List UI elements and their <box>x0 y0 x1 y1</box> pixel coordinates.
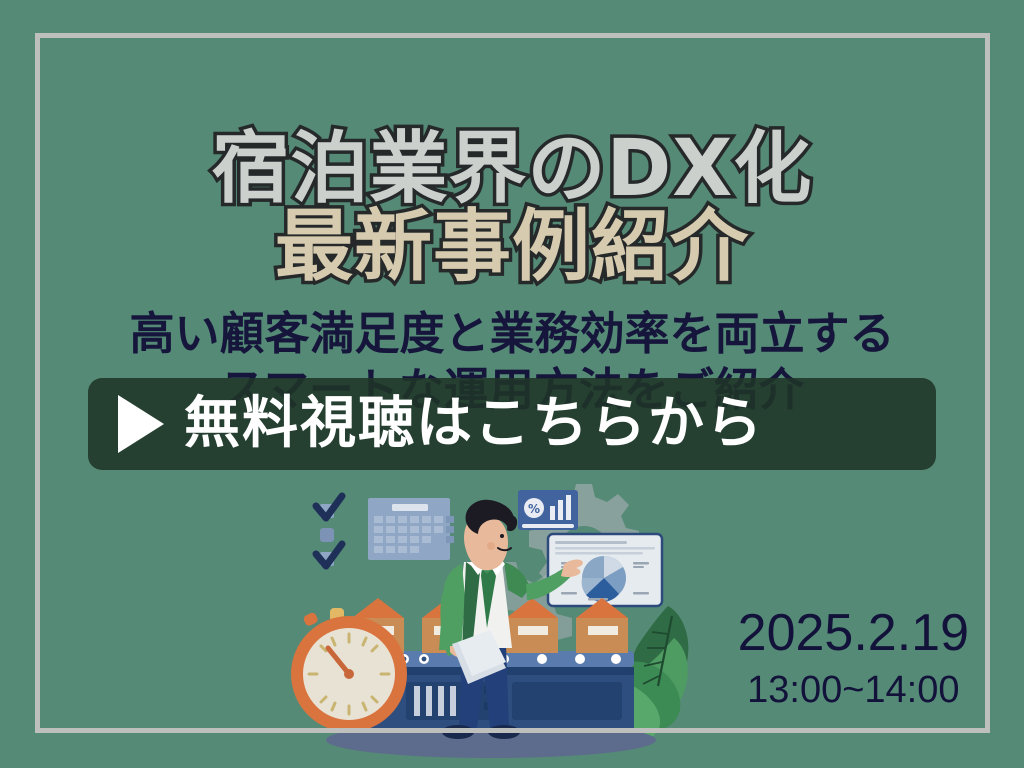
title-line-1: 宿泊業界のDX化 <box>0 128 1024 210</box>
checkmark-icon <box>316 544 342 566</box>
title-line-2: 最新事例紹介 <box>0 206 1024 288</box>
event-date: 2025.2.19 <box>738 604 969 662</box>
page-title: 宿泊業界のDX化 最新事例紹介 <box>0 128 1024 288</box>
free-viewing-cta-button[interactable]: 無料視聴はこちらから <box>88 378 936 470</box>
event-datetime: 2025.2.19 13:00~14:00 <box>738 604 969 712</box>
checkmark-icon <box>316 496 342 518</box>
event-time: 13:00~14:00 <box>738 668 969 712</box>
svg-text:%: % <box>528 502 540 516</box>
play-triangle-icon <box>118 395 164 453</box>
checkbox-empty-icon <box>320 528 334 542</box>
subtitle-line-1: 高い顧客満足度と業務効率を両立する <box>0 306 1024 362</box>
stat-card: % <box>518 490 578 530</box>
business-dx-illustration: % <box>276 466 706 758</box>
cta-label: 無料視聴はこちらから <box>184 394 764 454</box>
percent-icon: % <box>524 498 544 518</box>
webinar-poster: % <box>0 0 1024 768</box>
calendar-icon <box>368 498 454 560</box>
